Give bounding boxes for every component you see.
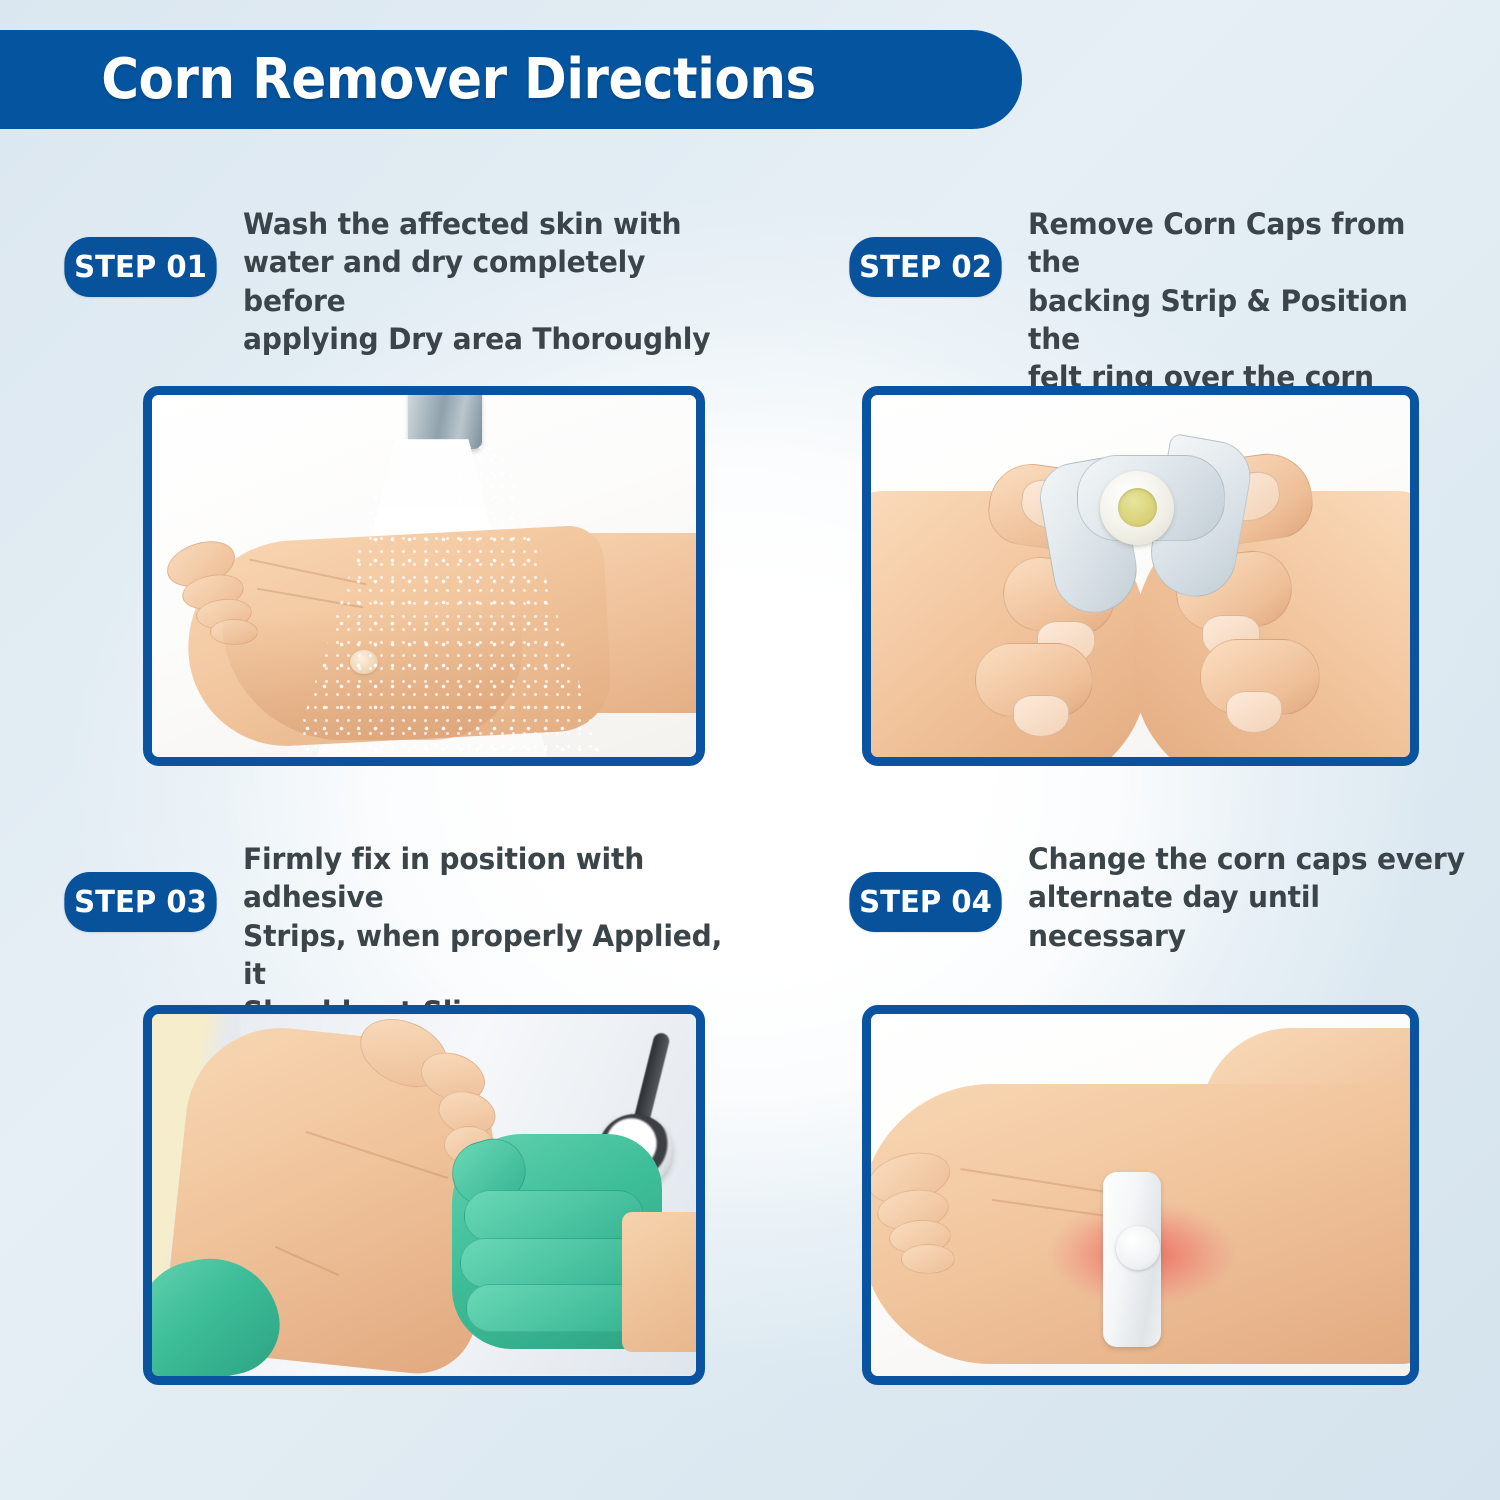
step-card-3: STEP 03 Firmly fix in position with adhe…	[0, 840, 785, 1475]
page-title: Corn Remover Directions	[0, 52, 816, 108]
right-ring-nail	[1226, 691, 1282, 733]
fourth-toe	[901, 1244, 955, 1274]
step-3-header: STEP 03 Firmly fix in position with adhe…	[0, 840, 785, 1031]
step-1-badge: STEP 01	[64, 237, 216, 297]
step-4-badge: STEP 04	[849, 872, 1001, 932]
foot-with-corn-cap-applied-over-red-irritation-illustration	[871, 1014, 1410, 1376]
step-3-image-frame	[143, 1005, 705, 1385]
glove-little-finger	[466, 1284, 642, 1332]
step-card-1: STEP 01 Wash the affected skin with wate…	[0, 205, 785, 840]
step-4-image-frame	[862, 1005, 1419, 1385]
glove-middle-finger	[464, 1190, 644, 1242]
steps-grid: STEP 01 Wash the affected skin with wate…	[0, 205, 1500, 1475]
step-2-badge: STEP 02	[849, 237, 1001, 297]
clinician-wrist	[622, 1212, 696, 1352]
left-ring-nail	[1013, 695, 1069, 737]
step-1-text: Wash the affected skin with water and dr…	[243, 205, 749, 358]
step-4-text: Change the corn caps every alternate day…	[1028, 840, 1466, 955]
corn-cap-pad	[1116, 1226, 1160, 1270]
step-3-badge: STEP 03	[64, 872, 216, 932]
gloved-clinician-hands-holding-foot-illustration	[152, 1014, 696, 1376]
corn-cap-felt-ring	[1100, 471, 1174, 545]
step-2-text: Remove Corn Caps from the backing Strip …	[1028, 205, 1466, 396]
step-4-header: STEP 04 Change the corn caps every alter…	[785, 840, 1500, 955]
glove-ring-finger	[460, 1238, 646, 1288]
foot-under-running-water-illustration	[152, 395, 696, 757]
step-1-image-frame	[143, 386, 705, 766]
step-2-header: STEP 02 Remove Corn Caps from the backin…	[785, 205, 1500, 396]
hands-peeling-corn-cap-from-backing-strip-illustration	[871, 395, 1410, 757]
directions-infographic: Corn Remover Directions STEP 01 Wash the…	[0, 0, 1500, 1500]
step-1-header: STEP 01 Wash the affected skin with wate…	[0, 205, 785, 358]
step-2-image-frame	[862, 386, 1419, 766]
step-3-text: Firmly fix in position with adhesive Str…	[243, 840, 749, 1031]
header-bar: Corn Remover Directions	[0, 30, 1022, 129]
step-card-4: STEP 04 Change the corn caps every alter…	[785, 840, 1500, 1475]
step-card-2: STEP 02 Remove Corn Caps from the backin…	[785, 205, 1500, 840]
corn-cap-medicated-center	[1118, 488, 1157, 527]
